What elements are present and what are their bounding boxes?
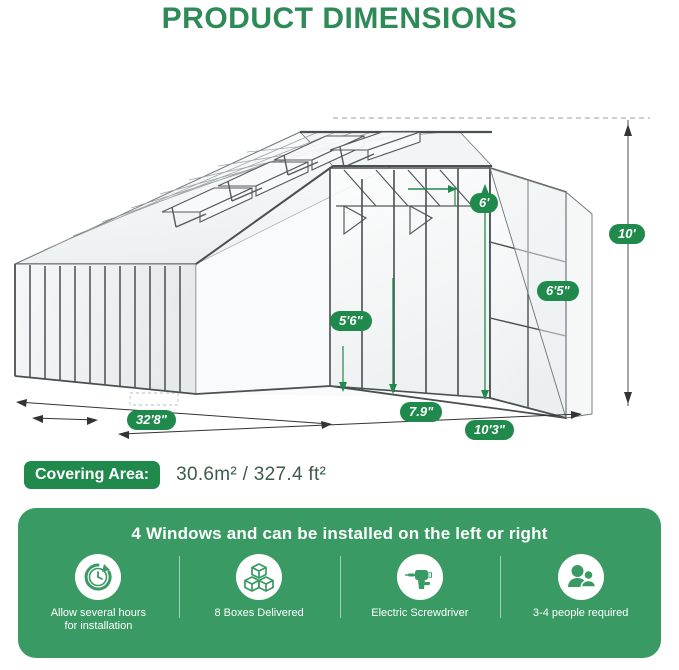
feature-item-tool: Electric Screwdriver xyxy=(340,554,501,650)
clock-arrow-icon xyxy=(75,554,121,600)
dimension-label-height: 10' xyxy=(609,224,645,244)
covering-area-row: Covering Area: 30.6m² / 327.4 ft² xyxy=(24,460,326,490)
feature-caption-line1: 8 Boxes Delivered xyxy=(214,607,303,619)
boxes-icon xyxy=(236,554,282,600)
dimension-label-door-height: 6'5" xyxy=(537,281,579,301)
people-icon xyxy=(558,554,604,600)
dimension-label-ridge-width: 6' xyxy=(470,193,498,213)
greenhouse-diagram: 6' 10' 6'5" 5'6" 32'8" 7.9" 10'3" xyxy=(0,46,679,446)
covering-area-value: 30.6m² / 327.4 ft² xyxy=(176,464,326,486)
feature-caption-line1: Electric Screwdriver xyxy=(371,607,468,619)
feature-caption-line1: 3-4 people required xyxy=(533,607,628,619)
feature-list: Allow several hours for installation xyxy=(18,554,661,650)
covering-area-label: Covering Area: xyxy=(24,461,160,489)
dimension-label-wall-height: 5'6" xyxy=(330,311,372,331)
dimension-label-base-offset: 7.9" xyxy=(400,402,442,422)
feature-caption-line2: for installation xyxy=(64,620,132,632)
page-title: PRODUCT DIMENSIONS xyxy=(0,2,679,36)
feature-card-headline: 4 Windows and can be installed on the le… xyxy=(18,524,661,544)
feature-item-installation-time: Allow several hours for installation xyxy=(18,554,179,650)
feature-caption: Electric Screwdriver xyxy=(371,607,468,620)
dimension-label-width: 10'3" xyxy=(465,420,514,440)
greenhouse-illustration xyxy=(0,46,679,446)
feature-item-boxes: 8 Boxes Delivered xyxy=(179,554,340,650)
feature-item-people: 3-4 people required xyxy=(500,554,661,650)
feature-caption: 3-4 people required xyxy=(533,607,628,620)
feature-card: 4 Windows and can be installed on the le… xyxy=(18,508,661,658)
dimension-label-length: 32'8" xyxy=(127,410,176,430)
feature-caption: Allow several hours for installation xyxy=(51,607,146,633)
feature-caption-line1: Allow several hours xyxy=(51,607,146,619)
drill-icon xyxy=(397,554,443,600)
feature-caption: 8 Boxes Delivered xyxy=(214,607,303,620)
